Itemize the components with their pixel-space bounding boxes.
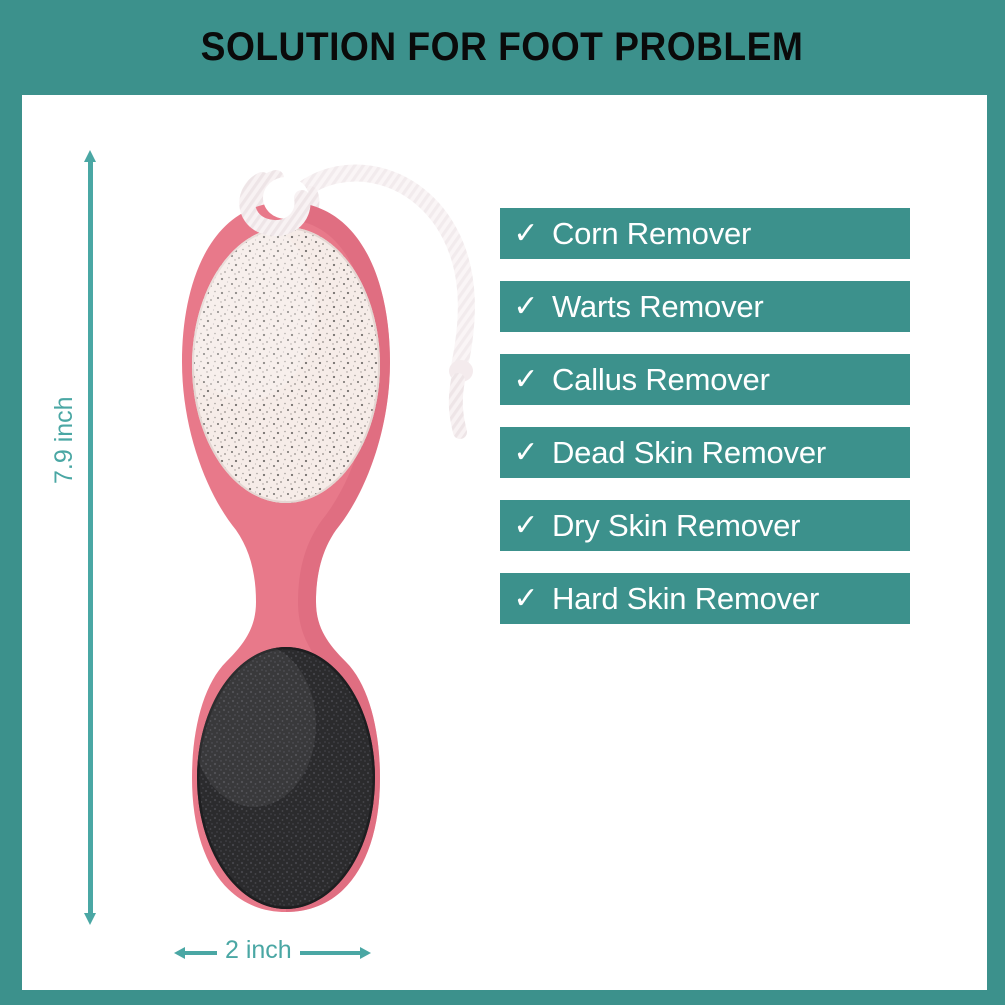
check-icon: ✓ — [500, 438, 552, 468]
feature-item-hard-skin-remover: ✓ Hard Skin Remover — [500, 573, 910, 624]
check-icon: ✓ — [500, 511, 552, 541]
feature-item-dry-skin-remover: ✓ Dry Skin Remover — [500, 500, 910, 551]
feature-item-warts-remover: ✓ Warts Remover — [500, 281, 910, 332]
feature-label: Callus Remover — [552, 362, 910, 398]
width-dimension-label: 2 inch — [217, 936, 300, 965]
arrow-right-icon — [360, 947, 371, 959]
feature-item-dead-skin-remover: ✓ Dead Skin Remover — [500, 427, 910, 478]
check-icon: ✓ — [500, 584, 552, 614]
page-title: SOLUTION FOR FOOT PROBLEM — [201, 25, 804, 70]
feature-label: Dry Skin Remover — [552, 508, 910, 544]
feature-item-callus-remover: ✓ Callus Remover — [500, 354, 910, 405]
feature-label: Warts Remover — [552, 289, 910, 325]
feature-label: Hard Skin Remover — [552, 581, 910, 617]
height-dimension-arrow — [84, 150, 96, 925]
check-icon: ✓ — [500, 219, 552, 249]
feature-label: Corn Remover — [552, 216, 910, 252]
check-icon: ✓ — [500, 292, 552, 322]
product-illustration — [150, 150, 510, 930]
header-banner: SOLUTION FOR FOOT PROBLEM — [0, 0, 1005, 95]
feature-item-corn-remover: ✓ Corn Remover — [500, 208, 910, 259]
feature-list: ✓ Corn Remover ✓ Warts Remover ✓ Callus … — [500, 208, 912, 646]
arrow-down-icon — [84, 913, 96, 925]
dimension-shaft — [88, 158, 93, 917]
feature-label: Dead Skin Remover — [552, 435, 910, 471]
height-dimension-label: 7.9 inch — [48, 390, 81, 490]
infographic-canvas: SOLUTION FOR FOOT PROBLEM — [0, 0, 1005, 1005]
check-icon: ✓ — [500, 365, 552, 395]
